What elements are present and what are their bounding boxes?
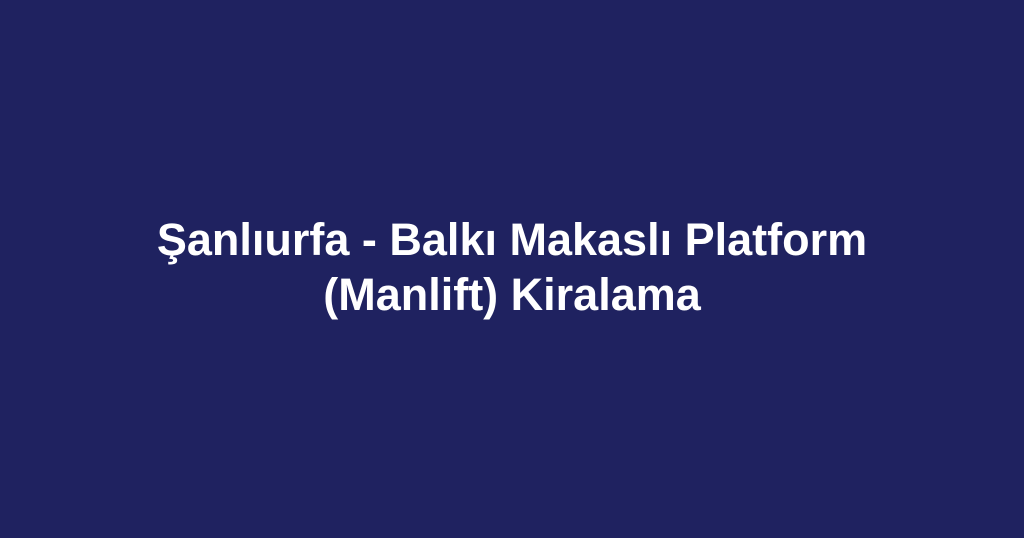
page-title-line-1: Şanlıurfa - Balkı Makaslı Platform: [96, 212, 928, 267]
title-block: Şanlıurfa - Balkı Makaslı Platform (Manl…: [72, 212, 952, 322]
page-title-line-2: (Manlift) Kiralama: [96, 267, 928, 322]
page-title: Şanlıurfa - Balkı Makaslı Platform (Manl…: [96, 212, 928, 322]
og-preview-card: Şanlıurfa - Balkı Makaslı Platform (Manl…: [0, 0, 1024, 538]
